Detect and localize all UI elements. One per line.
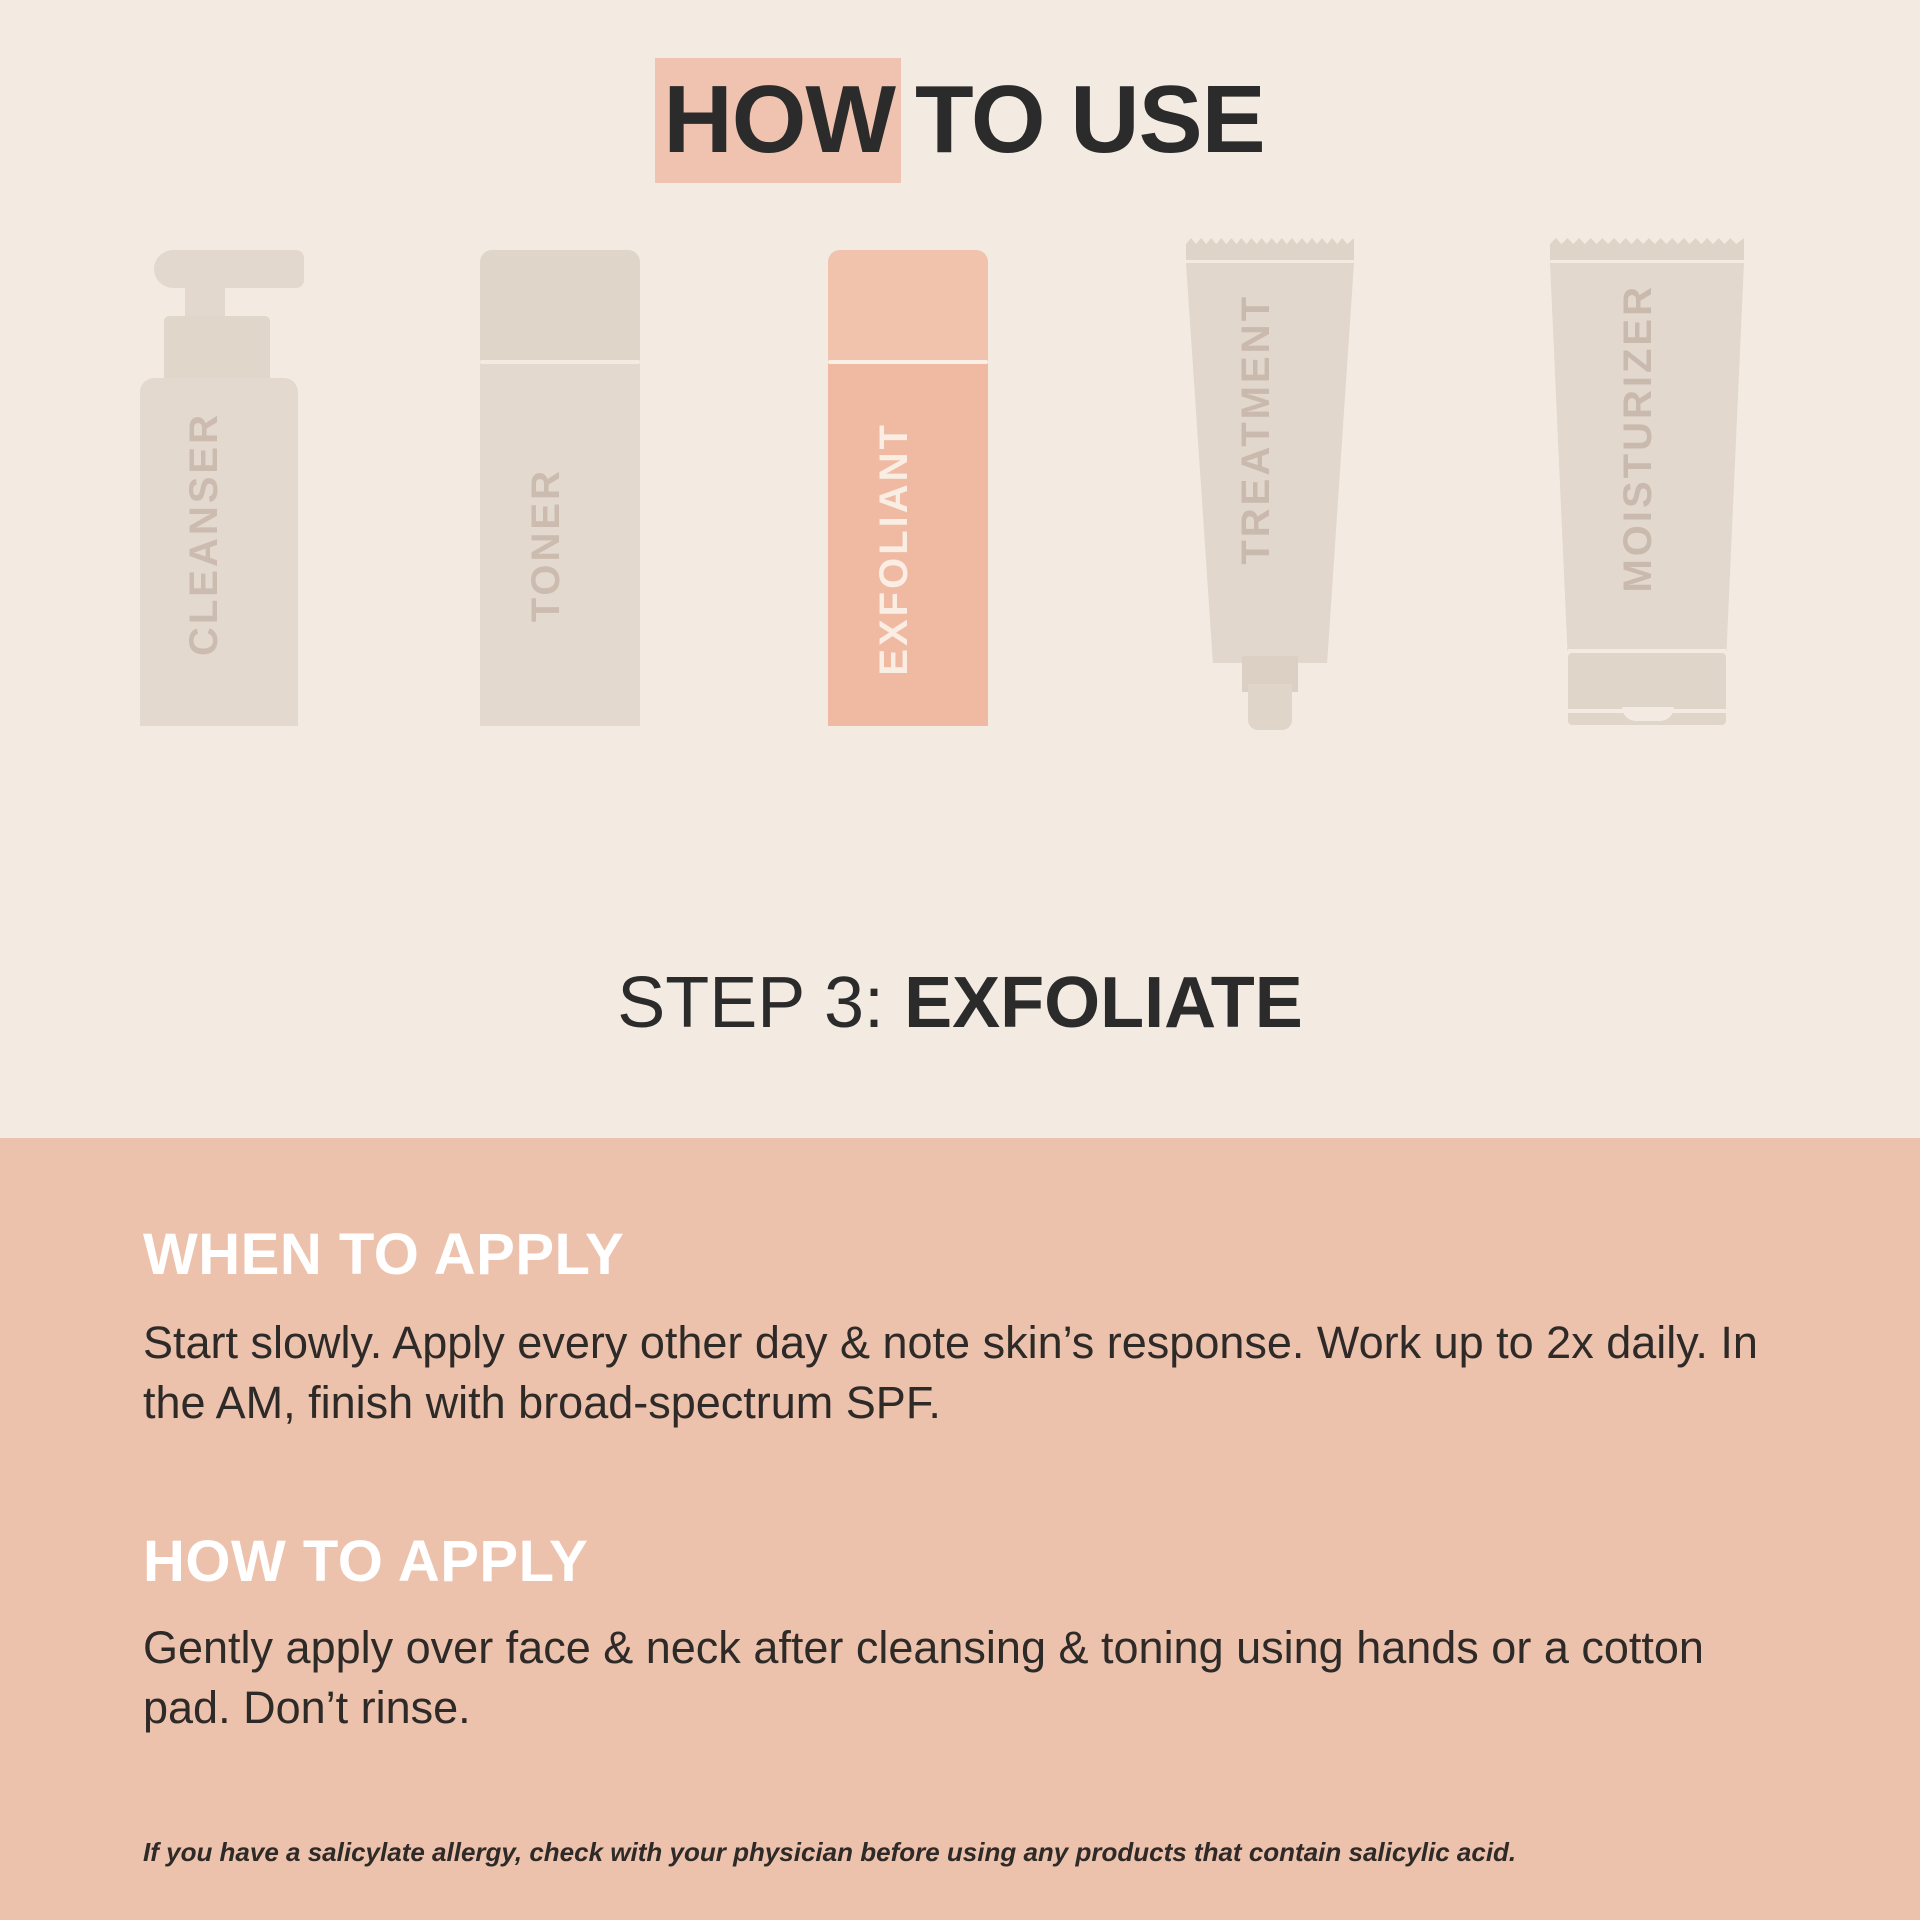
product-cleanser[interactable]: CLEANSER: [140, 232, 330, 852]
tube-crimp-icon: [1186, 238, 1354, 260]
bottom-section: WHEN TO APPLY Start slowly. Apply every …: [0, 1138, 1920, 1920]
product-exfoliant[interactable]: EXFOLIANT: [828, 232, 1018, 852]
product-label-moisturizer: MOISTURIZER: [1616, 284, 1661, 593]
tube-crimp-icon: [1550, 238, 1744, 260]
page-title: HOWTO USE: [0, 72, 1920, 168]
step-heading: STEP 3: EXFOLIATE: [0, 962, 1920, 1045]
product-row: CLEANSER TONER EXFOLIANT: [0, 232, 1920, 852]
bottle-cap: [480, 250, 640, 362]
title-highlight: HOW: [655, 58, 901, 183]
step-prefix: STEP 3:: [617, 963, 904, 1043]
step-name: EXFOLIATE: [904, 963, 1303, 1043]
product-label-exfoliant: EXFOLIANT: [872, 422, 917, 676]
product-treatment[interactable]: TREATMENT: [1180, 232, 1380, 852]
flip-cap-icon: [1568, 653, 1726, 715]
product-toner[interactable]: TONER: [480, 232, 670, 852]
section-body-how-to-apply: Gently apply over face & neck after clea…: [143, 1618, 1783, 1738]
section-body-when-to-apply: Start slowly. Apply every other day & no…: [143, 1313, 1823, 1433]
cap-notch-icon: [1622, 707, 1674, 721]
bottle-cap: [828, 250, 988, 362]
cap-seam-line: [480, 360, 640, 364]
product-label-toner: TONER: [524, 468, 569, 622]
section-heading-how-to-apply: HOW TO APPLY: [143, 1533, 588, 1591]
product-label-treatment: TREATMENT: [1234, 294, 1279, 565]
cap-seam-line: [828, 360, 988, 364]
section-heading-when-to-apply: WHEN TO APPLY: [143, 1226, 624, 1284]
title-rest: TO USE: [901, 66, 1265, 173]
product-moisturizer[interactable]: MOISTURIZER: [1550, 232, 1780, 852]
tube-nozzle-icon: [1248, 684, 1292, 730]
pump-collar-icon: [164, 316, 270, 384]
infographic-page: HOWTO USE CLEANSER TONER: [0, 0, 1920, 1920]
footnote-disclaimer: If you have a salicylate allergy, check …: [143, 1836, 1843, 1870]
top-section: HOWTO USE CLEANSER TONER: [0, 0, 1920, 1138]
pump-head-icon: [154, 250, 304, 288]
product-label-cleanser: CLEANSER: [182, 412, 227, 656]
